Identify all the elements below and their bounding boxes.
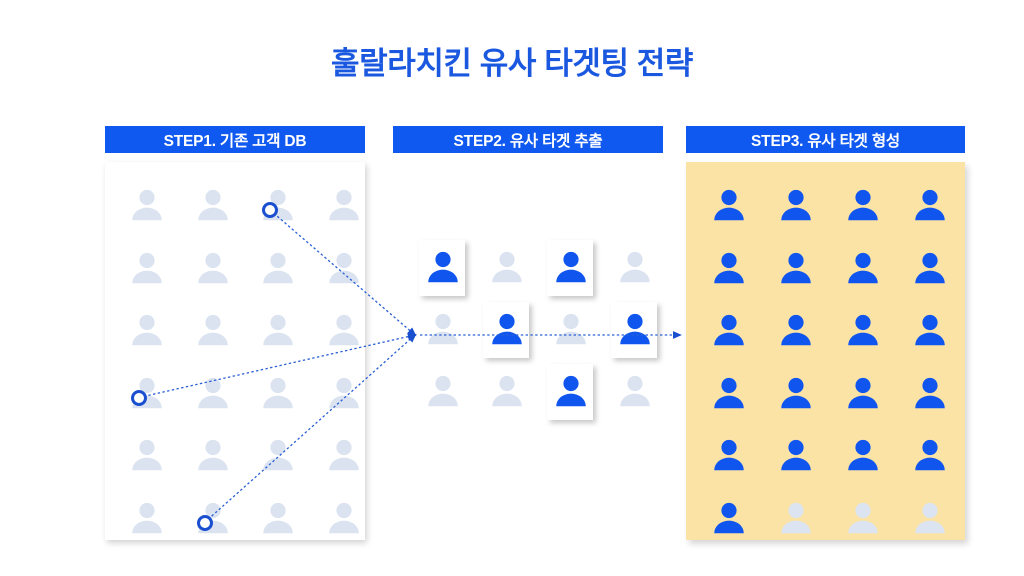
step2-person-highlight-r2-c2 bbox=[488, 310, 526, 348]
step1-person-r2-c2 bbox=[194, 249, 232, 287]
step2-person-highlight-r1-c1 bbox=[424, 248, 462, 286]
step3-person-faded-r6-c3 bbox=[844, 499, 882, 537]
step2-person-highlight-r1-c3 bbox=[552, 248, 590, 286]
step3-person-r2-c4 bbox=[911, 249, 949, 287]
step1-person-r4-c2 bbox=[194, 374, 232, 412]
step1-person-r5-c3 bbox=[259, 436, 297, 474]
step1-person-r5-c1 bbox=[128, 436, 166, 474]
step1-person-r4-c3 bbox=[259, 374, 297, 412]
slide-canvas: 훌랄라치킨 유사 타겟팅 전략 STEP1. 기존 고객 DB STEP2. 유… bbox=[0, 0, 1024, 576]
step3-person-r3-c1 bbox=[710, 311, 748, 349]
step2-person-r2-c1 bbox=[424, 310, 462, 348]
step2-person-r1-c4 bbox=[616, 248, 654, 286]
step3-header: STEP3. 유사 타겟 형성 bbox=[686, 126, 965, 153]
step2-person-r3-c1 bbox=[424, 372, 462, 410]
step3-person-r3-c2 bbox=[777, 311, 815, 349]
step3-person-r2-c2 bbox=[777, 249, 815, 287]
step1-person-r4-c4 bbox=[325, 374, 363, 412]
step3-person-r5-c3 bbox=[844, 436, 882, 474]
step1-person-r3-c2 bbox=[194, 311, 232, 349]
step1-selection-ring-3[interactable] bbox=[197, 515, 213, 531]
step1-person-r3-c1 bbox=[128, 311, 166, 349]
step1-person-r2-c4 bbox=[325, 249, 363, 287]
step1-person-r3-c3 bbox=[259, 311, 297, 349]
step1-header: STEP1. 기존 고객 DB bbox=[105, 126, 365, 153]
step3-person-r1-c1 bbox=[710, 186, 748, 224]
step2-person-r2-c3 bbox=[552, 310, 590, 348]
step2-header: STEP2. 유사 타겟 추출 bbox=[393, 126, 663, 153]
step3-person-r5-c1 bbox=[710, 436, 748, 474]
step2-person-r1-c2 bbox=[488, 248, 526, 286]
step1-selection-ring-1[interactable] bbox=[262, 202, 278, 218]
step3-person-r1-c3 bbox=[844, 186, 882, 224]
step3-person-r1-c4 bbox=[911, 186, 949, 224]
step2-person-highlight-r3-c3 bbox=[552, 372, 590, 410]
step1-selection-ring-2[interactable] bbox=[131, 390, 147, 406]
step3-person-r1-c2 bbox=[777, 186, 815, 224]
step2-person-highlight-r2-c4 bbox=[616, 310, 654, 348]
step1-person-r5-c2 bbox=[194, 436, 232, 474]
step1-person-r3-c4 bbox=[325, 311, 363, 349]
step3-person-faded-r6-c4 bbox=[911, 499, 949, 537]
step3-person-r4-c2 bbox=[777, 374, 815, 412]
step3-person-r4-c4 bbox=[911, 374, 949, 412]
step3-person-r5-c4 bbox=[911, 436, 949, 474]
step1-person-r6-c4 bbox=[325, 499, 363, 537]
step1-person-r6-c3 bbox=[259, 499, 297, 537]
step3-person-r2-c3 bbox=[844, 249, 882, 287]
step1-person-r5-c4 bbox=[325, 436, 363, 474]
step3-person-r3-c4 bbox=[911, 311, 949, 349]
step1-person-r1-c2 bbox=[194, 186, 232, 224]
step3-person-r6-c1 bbox=[710, 499, 748, 537]
page-title: 훌랄라치킨 유사 타겟팅 전략 bbox=[0, 38, 1024, 83]
step3-person-r4-c3 bbox=[844, 374, 882, 412]
step3-person-r3-c3 bbox=[844, 311, 882, 349]
step2-person-r3-c4 bbox=[616, 372, 654, 410]
step2-person-r3-c2 bbox=[488, 372, 526, 410]
step3-person-faded-r6-c2 bbox=[777, 499, 815, 537]
step3-person-r4-c1 bbox=[710, 374, 748, 412]
step1-person-r1-c1 bbox=[128, 186, 166, 224]
step1-person-r2-c3 bbox=[259, 249, 297, 287]
step3-person-r5-c2 bbox=[777, 436, 815, 474]
step1-person-r2-c1 bbox=[128, 249, 166, 287]
step1-person-r6-c1 bbox=[128, 499, 166, 537]
step1-person-r1-c4 bbox=[325, 186, 363, 224]
step3-person-r2-c1 bbox=[710, 249, 748, 287]
